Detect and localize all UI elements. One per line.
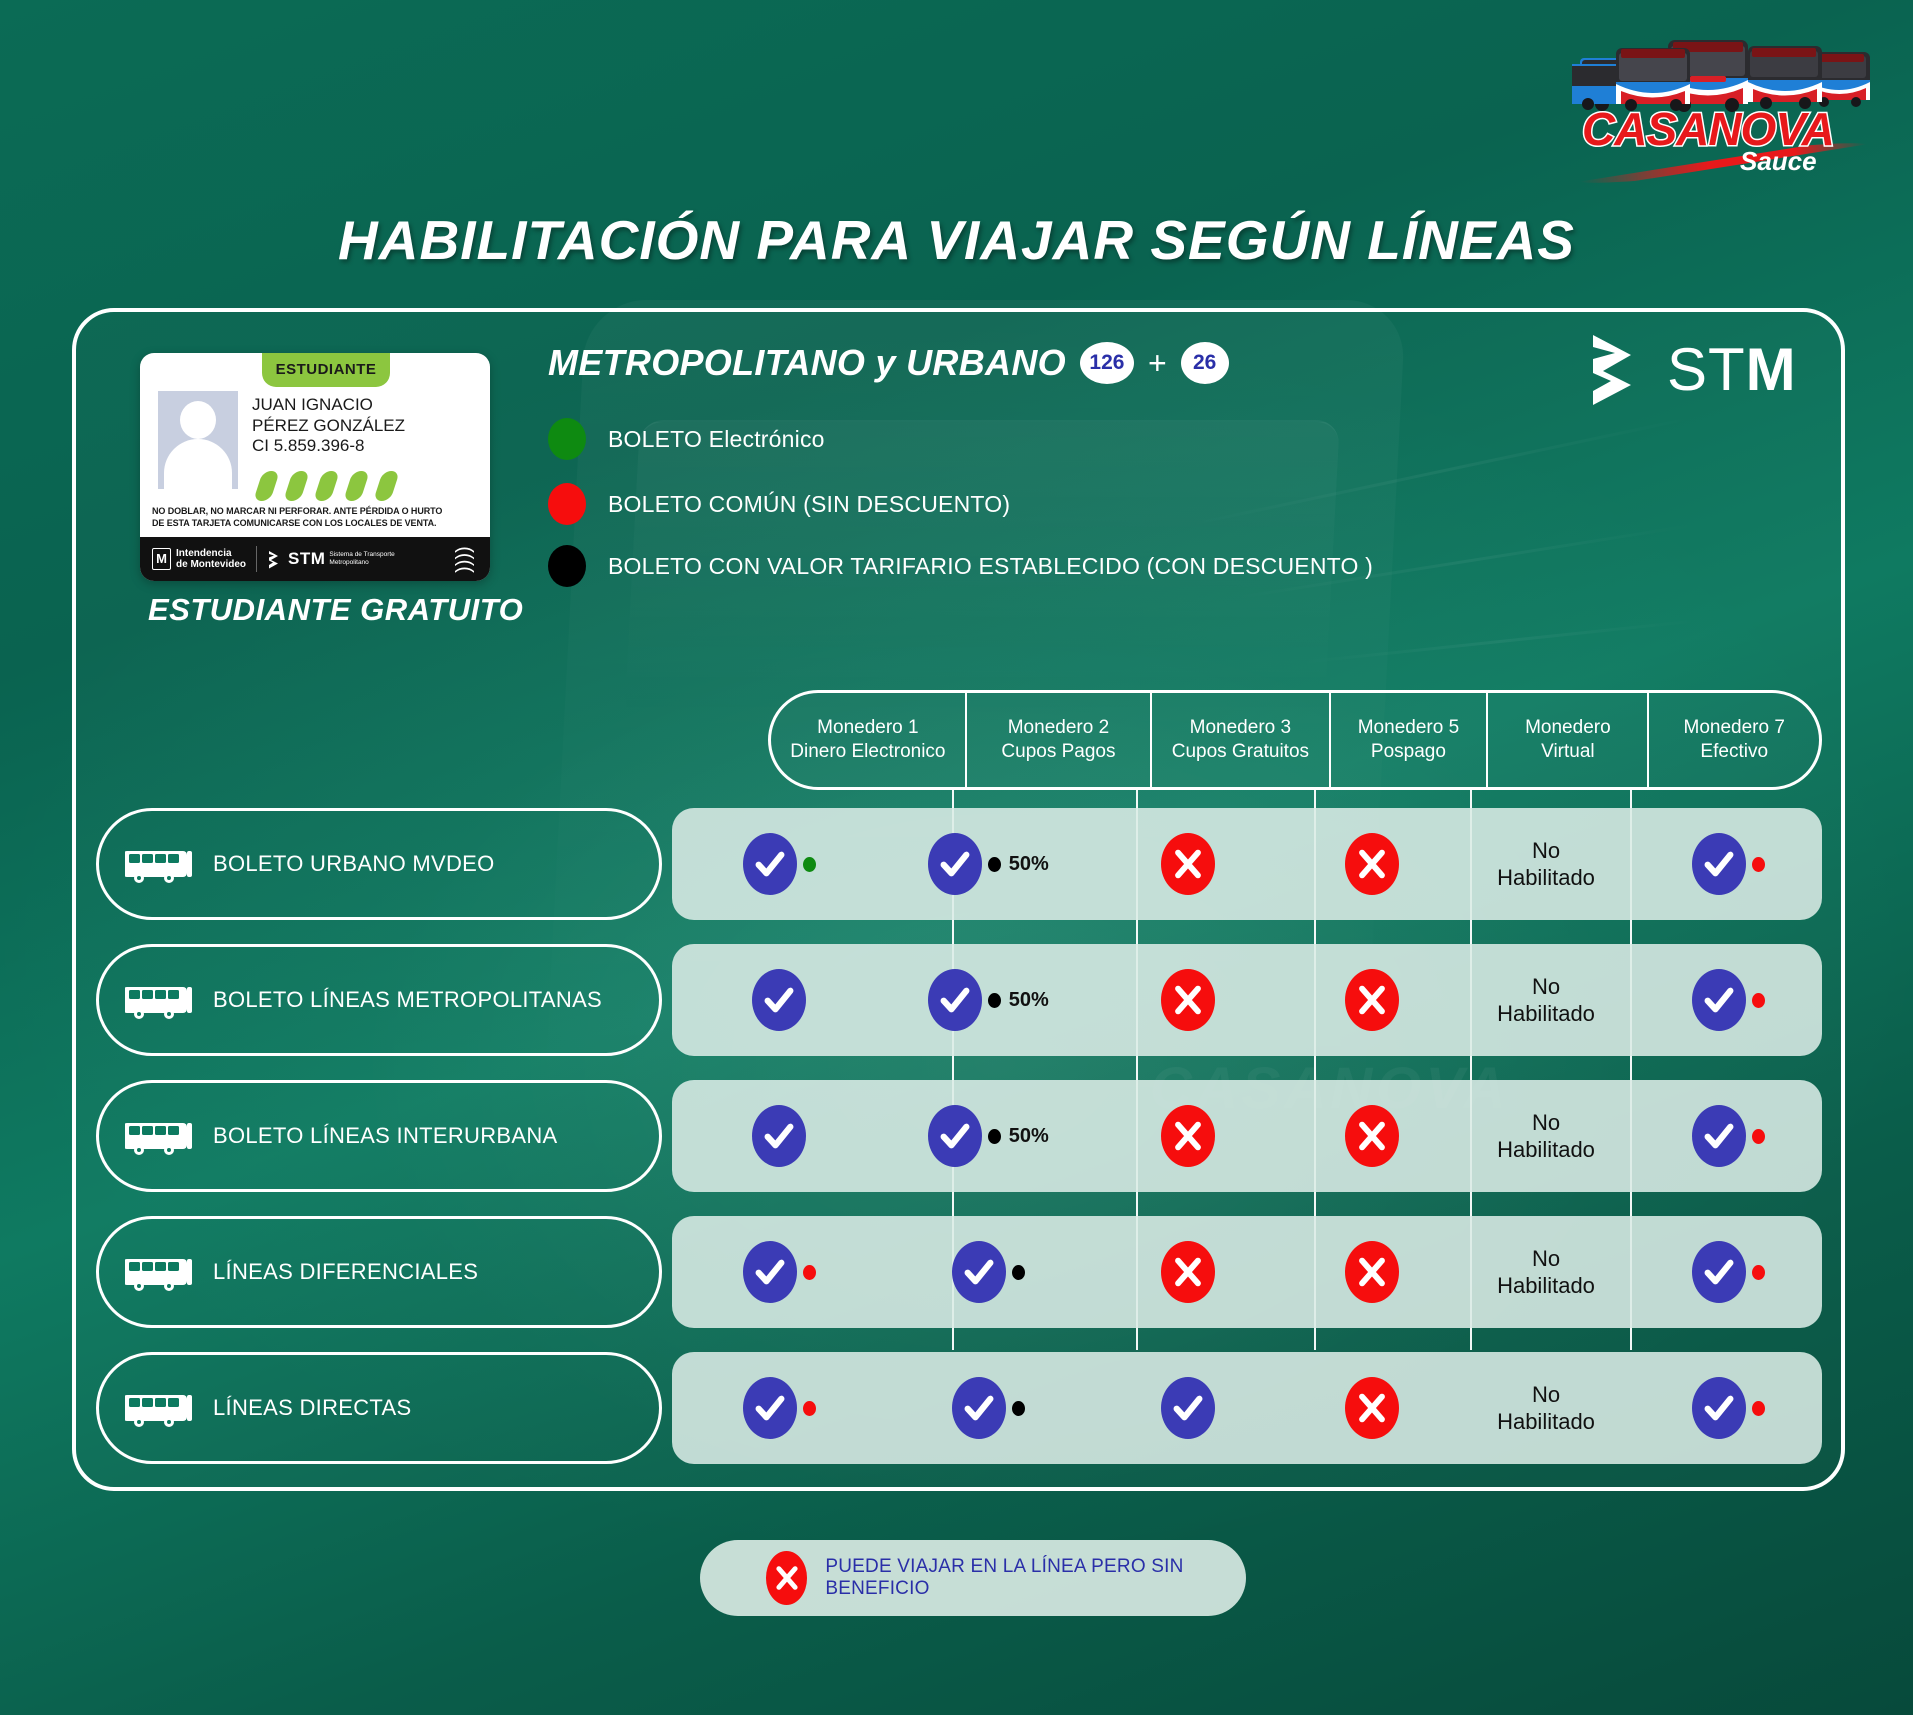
cross-icon	[1161, 969, 1215, 1031]
cell-discount-note: 50%	[1009, 853, 1049, 876]
cell-marker	[1161, 833, 1215, 895]
cell-marker	[1161, 1377, 1215, 1439]
black-circle-icon	[548, 545, 586, 587]
check-icon	[743, 833, 797, 895]
table-cell: 50%	[887, 944, 1090, 1056]
black-dot-icon	[988, 993, 1001, 1008]
habilitacion-table: Monedero 1Dinero Electronico Monedero 2C…	[96, 690, 1822, 1462]
check-glyph	[1171, 1391, 1205, 1425]
card-name-line-2: PÉREZ GONZÁLEZ	[252, 416, 405, 437]
check-icon	[1692, 1241, 1746, 1303]
legend-heading-row: METROPOLITANO y URBANO 126 + 26	[548, 342, 1229, 384]
table-cell	[672, 944, 887, 1056]
check-icon	[928, 969, 982, 1031]
row-label-text: BOLETO LÍNEAS INTERURBANA	[213, 1123, 558, 1149]
check-glyph	[938, 847, 972, 881]
red-circle-icon	[548, 483, 586, 525]
check-glyph	[753, 847, 787, 881]
casanova-sublabel: Sauce	[1740, 146, 1817, 177]
cross-icon	[766, 1551, 807, 1605]
card-caption: ESTUDIANTE GRATUITO	[148, 592, 523, 628]
casanova-wordmark: CASANOVA	[1582, 106, 1882, 152]
page-title: HABILITACIÓN PARA VIAJAR SEGÚN LÍNEAS	[0, 208, 1913, 272]
cross-icon	[1345, 1105, 1399, 1167]
cell-discount-note: 50%	[1009, 989, 1049, 1012]
row-cells: NoHabilitado	[672, 1352, 1822, 1464]
cell-status-text: NoHabilitado	[1497, 837, 1595, 892]
column-header-monedero-virtual: MonederoVirtual	[1488, 693, 1649, 787]
cell-marker	[1161, 969, 1215, 1031]
cell-marker	[743, 1377, 816, 1439]
check-glyph	[938, 983, 972, 1017]
card-stripes-decoration	[258, 471, 438, 501]
cross-icon	[1161, 1105, 1215, 1167]
stm-mark-icon	[267, 550, 284, 569]
check-glyph	[938, 1119, 972, 1153]
card-footer-divider	[256, 546, 257, 572]
row-cells: 50% NoHabilitado	[672, 1080, 1822, 1192]
cell-marker: 50%	[928, 969, 1049, 1031]
cell-marker	[952, 1241, 1025, 1303]
cross-icon	[1345, 969, 1399, 1031]
row-label: LÍNEAS DIFERENCIALES	[96, 1216, 662, 1328]
bus-icon	[125, 979, 199, 1021]
card-legal-line-1: NO DOBLAR, NO MARCAR NI PERFORAR. ANTE P…	[152, 505, 478, 517]
card-holder-info: JUAN IGNACIO PÉREZ GONZÁLEZ CI 5.859.396…	[252, 395, 405, 457]
legend-item-electronico: BOLETO Electrónico	[548, 418, 825, 460]
check-icon	[952, 1377, 1006, 1439]
cell-status-text: NoHabilitado	[1497, 1381, 1595, 1436]
x-glyph	[1171, 847, 1205, 881]
column-header-monedero-5: Monedero 5Pospago	[1331, 693, 1489, 787]
check-icon	[1692, 1377, 1746, 1439]
black-dot-icon	[988, 1129, 1001, 1144]
cell-marker	[1345, 1105, 1399, 1167]
stm-card-wordmark: STM	[288, 549, 325, 569]
check-glyph	[1702, 1255, 1736, 1289]
legend-item-tarifario: BOLETO CON VALOR TARIFARIO ESTABLECIDO (…	[548, 545, 1373, 587]
intendencia-text: Intendencia de Montevideo	[176, 548, 246, 571]
cell-discount-note: 50%	[1009, 1125, 1049, 1148]
row-cells: 50% NoHabilitado	[672, 944, 1822, 1056]
stm-logo: STM	[1585, 330, 1797, 408]
check-glyph	[1702, 847, 1736, 881]
cell-marker	[743, 833, 816, 895]
table-row: LÍNEAS DIRECTAS NoHabilitado	[96, 1352, 1822, 1464]
table-cell	[1090, 808, 1286, 920]
cell-marker	[1345, 969, 1399, 1031]
red-dot-icon	[1752, 857, 1765, 872]
green-circle-icon	[548, 418, 586, 460]
intendencia-logo: M Intendencia de Montevideo	[152, 548, 246, 571]
legend-label-electronico: BOLETO Electrónico	[608, 426, 825, 453]
red-dot-icon	[803, 1265, 816, 1280]
column-header-monedero-1: Monedero 1Dinero Electronico	[771, 693, 967, 787]
table-cell	[672, 1216, 887, 1328]
cell-marker	[1692, 1105, 1765, 1167]
x-glyph	[1171, 1255, 1205, 1289]
row-cells: 50% NoHabilitado	[672, 808, 1822, 920]
row-label-text: BOLETO LÍNEAS METROPOLITANAS	[213, 987, 602, 1013]
cell-marker	[1345, 833, 1399, 895]
table-cell: NoHabilitado	[1458, 1352, 1634, 1464]
stm-desc-line-1: Sistema de Transporte	[329, 551, 394, 559]
card-id-number: CI 5.859.396-8	[252, 436, 405, 457]
x-glyph	[1355, 1255, 1389, 1289]
red-dot-icon	[1752, 1129, 1765, 1144]
table-cell	[1634, 1216, 1822, 1328]
cell-marker	[1345, 1241, 1399, 1303]
footer-note: PUEDE VIAJAR EN LA LÍNEA PERO SIN BENEFI…	[700, 1540, 1246, 1616]
x-glyph	[773, 1564, 801, 1592]
x-glyph	[1355, 1391, 1389, 1425]
table-cell	[1285, 808, 1458, 920]
bus-icon	[125, 1387, 199, 1429]
red-dot-icon	[1752, 993, 1765, 1008]
cell-marker	[1692, 833, 1765, 895]
intendencia-line-1: Intendencia	[176, 548, 246, 560]
cell-marker	[1161, 1105, 1215, 1167]
check-glyph	[1702, 1391, 1736, 1425]
table-cell	[1285, 944, 1458, 1056]
table-cell	[672, 1352, 887, 1464]
cell-marker	[743, 1241, 816, 1303]
stm-card-desc: Sistema de Transporte Metropolitano	[329, 551, 394, 567]
check-glyph	[962, 1391, 996, 1425]
check-icon	[928, 1105, 982, 1167]
card-legal-text: NO DOBLAR, NO MARCAR NI PERFORAR. ANTE P…	[152, 505, 478, 529]
row-label: LÍNEAS DIRECTAS	[96, 1352, 662, 1464]
bus-icon	[125, 843, 199, 885]
cell-marker	[1345, 1377, 1399, 1439]
green-dot-icon	[803, 857, 816, 872]
check-glyph	[753, 1391, 787, 1425]
table-cell	[1090, 944, 1286, 1056]
intendencia-badge: M	[152, 548, 171, 570]
card-footer: M Intendencia de Montevideo STM Sistema …	[140, 537, 490, 581]
cell-marker	[1692, 1241, 1765, 1303]
card-category-tab: ESTUDIANTE	[262, 353, 390, 387]
table-cell: NoHabilitado	[1458, 808, 1634, 920]
check-icon	[743, 1241, 797, 1303]
black-dot-icon	[1012, 1265, 1025, 1280]
legend-label-comun: BOLETO COMÚN (SIN DESCUENTO)	[608, 491, 1010, 518]
nfc-icon: ))))	[453, 546, 476, 573]
stm-word-st: ST	[1667, 336, 1746, 403]
cell-marker: 50%	[928, 833, 1049, 895]
table-cell: 50%	[887, 1080, 1090, 1192]
table-row: LÍNEAS DIFERENCIALES NoHabilitado	[96, 1216, 1822, 1328]
check-icon	[752, 969, 806, 1031]
table-cell	[1090, 1080, 1286, 1192]
table-cell	[1285, 1216, 1458, 1328]
check-glyph	[1702, 983, 1736, 1017]
table-cell	[1634, 944, 1822, 1056]
stm-card-logo: STM Sistema de Transporte Metropolitano	[267, 549, 395, 569]
row-label: BOLETO URBANO MVDEO	[96, 808, 662, 920]
table-cell: NoHabilitado	[1458, 944, 1634, 1056]
cell-status-text: NoHabilitado	[1497, 1109, 1595, 1164]
card-legal-line-2: DE ESTA TARJETA COMUNICARSE CON LOS LOCA…	[152, 517, 478, 529]
check-glyph	[753, 1255, 787, 1289]
plus-symbol: +	[1148, 345, 1167, 382]
cross-icon	[1161, 833, 1215, 895]
row-label-text: LÍNEAS DIFERENCIALES	[213, 1259, 478, 1285]
cross-icon	[1161, 1241, 1215, 1303]
x-glyph	[1171, 1119, 1205, 1153]
table-rows: BOLETO URBANO MVDEO 50% NoHabilitado BOL…	[96, 808, 1822, 1488]
table-row: BOLETO LÍNEAS METROPOLITANAS 50% NoHabil…	[96, 944, 1822, 1056]
table-row: BOLETO URBANO MVDEO 50% NoHabilitado	[96, 808, 1822, 920]
check-glyph	[762, 1119, 796, 1153]
cell-marker	[1692, 969, 1765, 1031]
table-cell	[887, 1216, 1090, 1328]
cell-marker	[752, 1105, 806, 1167]
table-cell	[1634, 1080, 1822, 1192]
check-glyph	[1702, 1119, 1736, 1153]
footer-note-text: PUEDE VIAJAR EN LA LÍNEA PERO SIN BENEFI…	[825, 1556, 1246, 1600]
x-glyph	[1355, 983, 1389, 1017]
cross-icon	[1345, 1377, 1399, 1439]
intendencia-line-2: de Montevideo	[176, 559, 246, 571]
bus-icon	[125, 1251, 199, 1293]
table-cell	[1090, 1216, 1286, 1328]
table-cell	[1634, 808, 1822, 920]
cell-marker	[1692, 1377, 1765, 1439]
line-count-badge-metropolitano: 126	[1080, 342, 1134, 384]
row-label-text: LÍNEAS DIRECTAS	[213, 1395, 411, 1421]
table-cell	[887, 1352, 1090, 1464]
cell-marker	[752, 969, 806, 1031]
black-dot-icon	[1012, 1401, 1025, 1416]
check-glyph	[962, 1255, 996, 1289]
column-header-monedero-3: Monedero 3Cupos Gratuitos	[1152, 693, 1330, 787]
card-photo-placeholder	[158, 391, 238, 489]
table-cell	[672, 1080, 887, 1192]
stm-word-m: M	[1746, 336, 1797, 403]
x-glyph	[1171, 983, 1205, 1017]
black-dot-icon	[988, 857, 1001, 872]
check-icon	[1161, 1377, 1215, 1439]
table-cell: NoHabilitado	[1458, 1080, 1634, 1192]
cell-status-text: NoHabilitado	[1497, 973, 1595, 1028]
table-cell	[1285, 1352, 1458, 1464]
table-cell	[1634, 1352, 1822, 1464]
stm-mark-icon	[1585, 330, 1653, 408]
check-icon	[1692, 969, 1746, 1031]
table-row: BOLETO LÍNEAS INTERURBANA 50% NoHabilita…	[96, 1080, 1822, 1192]
check-icon	[1692, 1105, 1746, 1167]
legend-heading: METROPOLITANO y URBANO	[548, 342, 1066, 384]
casanova-logo: CASANOVA Sauce	[1572, 18, 1912, 183]
stm-desc-line-2: Metropolitano	[329, 559, 394, 567]
check-glyph	[762, 983, 796, 1017]
check-icon	[952, 1241, 1006, 1303]
cross-icon	[1345, 1241, 1399, 1303]
table-cell	[1090, 1352, 1286, 1464]
cell-marker	[952, 1377, 1025, 1439]
cell-marker: 50%	[928, 1105, 1049, 1167]
cell-marker	[1161, 1241, 1215, 1303]
card-name-line-1: JUAN IGNACIO	[252, 395, 405, 416]
red-dot-icon	[1752, 1265, 1765, 1280]
check-icon	[743, 1377, 797, 1439]
table-cell	[672, 808, 887, 920]
line-count-badge-urbano: 26	[1181, 342, 1229, 384]
student-card: ESTUDIANTE JUAN IGNACIO PÉREZ GONZÁLEZ C…	[140, 353, 490, 581]
row-label: BOLETO LÍNEAS METROPOLITANAS	[96, 944, 662, 1056]
x-glyph	[1355, 1119, 1389, 1153]
x-glyph	[1355, 847, 1389, 881]
legend-label-tarifario: BOLETO CON VALOR TARIFARIO ESTABLECIDO (…	[608, 553, 1373, 580]
red-dot-icon	[1752, 1401, 1765, 1416]
legend-item-comun: BOLETO COMÚN (SIN DESCUENTO)	[548, 483, 1010, 525]
table-cell: 50%	[887, 808, 1090, 920]
bus-icon	[125, 1115, 199, 1157]
check-icon	[752, 1105, 806, 1167]
table-cell	[1285, 1080, 1458, 1192]
cross-icon	[1345, 833, 1399, 895]
check-icon	[1692, 833, 1746, 895]
column-header-monedero-2: Monedero 2Cupos Pagos	[967, 693, 1152, 787]
column-header-monedero-7: Monedero 7Efectivo	[1649, 693, 1819, 787]
cell-status-text: NoHabilitado	[1497, 1245, 1595, 1300]
stm-wordmark: STM	[1667, 335, 1797, 404]
table-cell: NoHabilitado	[1458, 1216, 1634, 1328]
check-icon	[928, 833, 982, 895]
row-label-text: BOLETO URBANO MVDEO	[213, 851, 495, 877]
red-dot-icon	[803, 1401, 816, 1416]
row-cells: NoHabilitado	[672, 1216, 1822, 1328]
table-column-headers: Monedero 1Dinero Electronico Monedero 2C…	[768, 690, 1822, 790]
row-label: BOLETO LÍNEAS INTERURBANA	[96, 1080, 662, 1192]
